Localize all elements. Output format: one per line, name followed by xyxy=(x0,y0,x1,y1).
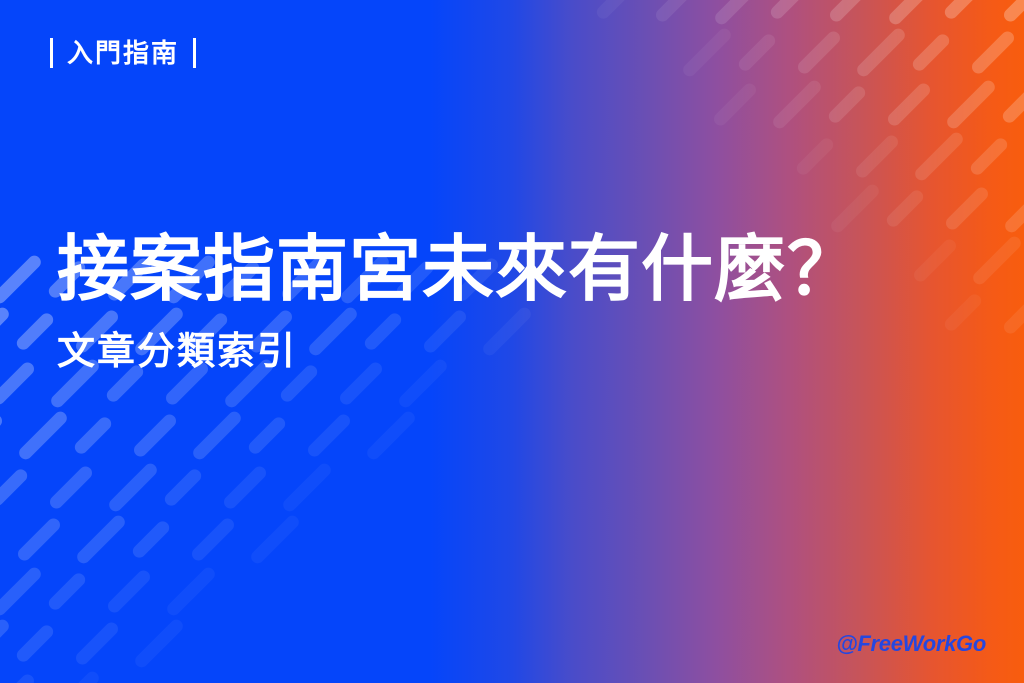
watermark-label: @FreeWorkGo xyxy=(836,631,986,657)
category-badge: 入門指南 xyxy=(50,38,196,68)
banner-canvas: 入門指南 接案指南宮未來有什麼？ 文章分類索引 @FreeWorkGo xyxy=(0,0,1024,683)
title-block: 接案指南宮未來有什麼？ 文章分類索引 xyxy=(57,232,987,374)
page-subtitle: 文章分類索引 xyxy=(57,332,987,374)
badge-label: 入門指南 xyxy=(67,40,179,66)
page-title: 接案指南宮未來有什麼？ xyxy=(57,232,987,310)
badge-right-bar-icon xyxy=(193,38,196,68)
badge-left-bar-icon xyxy=(50,38,53,68)
